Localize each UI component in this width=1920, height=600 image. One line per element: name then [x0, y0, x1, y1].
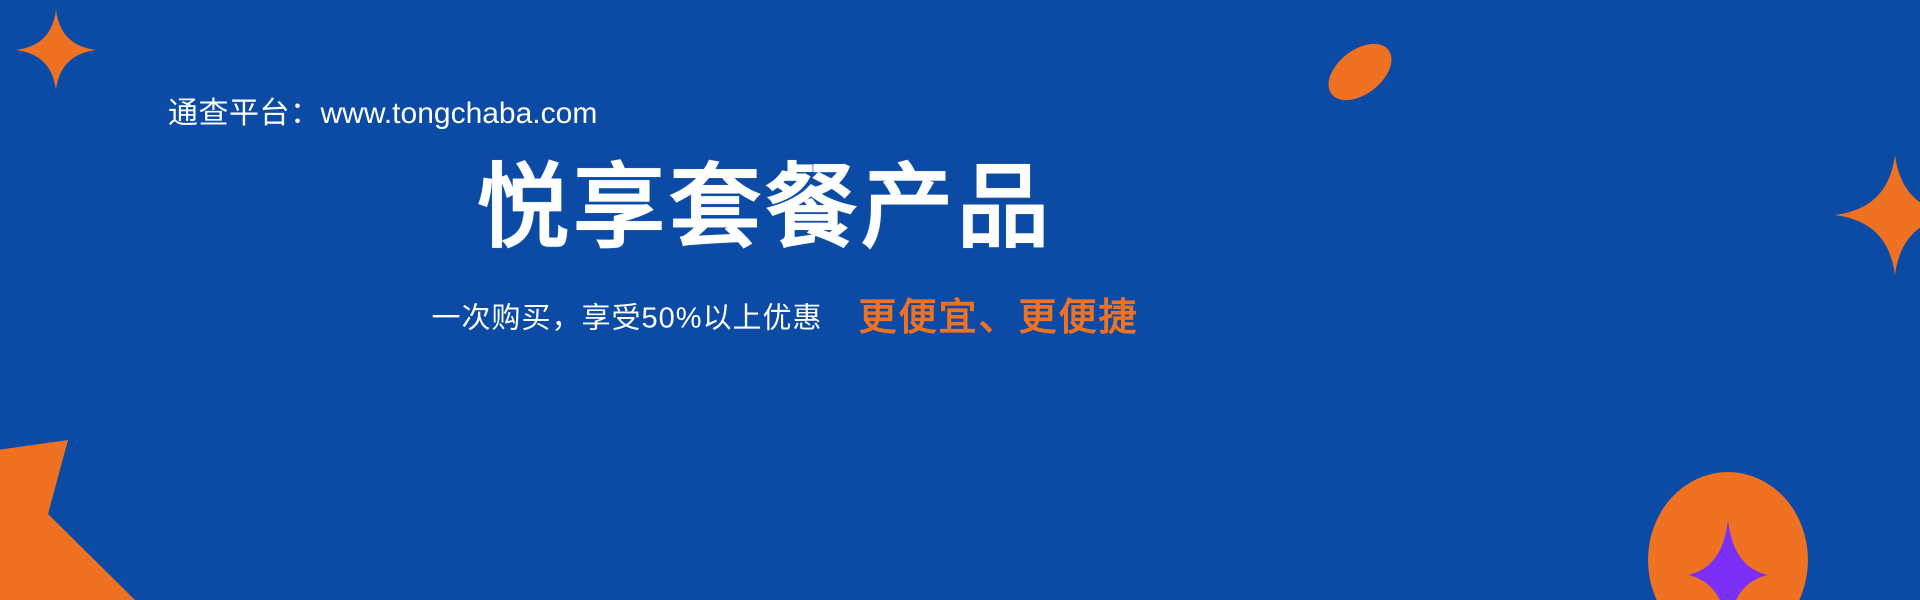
promo-banner: 通查平台：www.tongchaba.com 悦享套餐产品 一次购买，享受50%… — [0, 0, 1920, 600]
platform-label: 通查平台： — [168, 97, 321, 130]
subtitle-inner: 一次购买，享受50%以上优惠更便宜、更便捷 — [431, 296, 1138, 342]
subtitle-highlight-text: 更便宜、更便捷 — [859, 297, 1139, 339]
banner-text-layer: 通查平台：www.tongchaba.com 悦享套餐产品 一次购买，享受50%… — [0, 0, 1920, 600]
subtitle-offer-text: 一次购买，享受50%以上优惠 — [431, 302, 822, 334]
platform-url[interactable]: www.tongchaba.com — [321, 97, 598, 130]
headline-text: 悦享套餐产品 — [477, 160, 1053, 257]
page-title: 悦享套餐产品 — [0, 160, 1920, 257]
platform-line: 通查平台：www.tongchaba.com — [168, 88, 597, 132]
subtitle-row: 一次购买，享受50%以上优惠更便宜、更便捷 — [0, 296, 1920, 342]
